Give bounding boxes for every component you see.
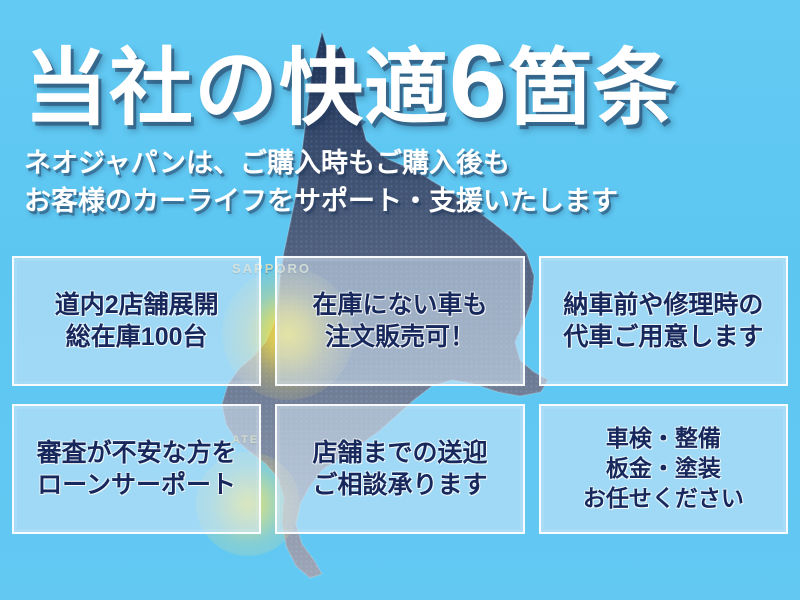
page-title: 当社の快適6箇条 [24, 28, 776, 136]
feature-text: 車検・整備 板金・塗装 お任せください [583, 424, 744, 514]
feature-order-sales: 在庫にない車も 注文販売可！ [275, 256, 524, 386]
feature-text: 在庫にない車も 注文販売可！ [312, 289, 487, 354]
feature-grid: 道内2店舗展開 総在庫100台 在庫にない車も 注文販売可！ 納車前や修理時の … [12, 256, 788, 534]
feature-loaner-car: 納車前や修理時の 代車ご用意します [539, 256, 788, 386]
subtitle-line-2: お客様のカーライフをサポート・支援いたします [24, 184, 776, 220]
title-number: 6 [449, 24, 508, 140]
promo-banner: SAPPORO ATE 当社の快適6箇条 ネオジャパンは、ご購入時もご購入後も … [0, 0, 800, 600]
feature-text: 納車前や修理時の 代車ご用意します [563, 289, 763, 354]
title-suffix: 箇条 [508, 41, 678, 135]
headline-block: 当社の快適6箇条 ネオジャパンは、ご購入時もご購入後も お客様のカーライフをサポ… [24, 28, 776, 219]
feature-stores-stock: 道内2店舗展開 総在庫100台 [12, 256, 261, 386]
feature-loan-support: 審査が不安な方を ローンサーポート [12, 404, 261, 534]
feature-pickup: 店舗までの送迎 ご相談承ります [275, 404, 524, 534]
feature-text: 店舗までの送迎 ご相談承ります [312, 437, 487, 502]
feature-inspection: 車検・整備 板金・塗装 お任せください [539, 404, 788, 534]
subtitle-line-1: ネオジャパンは、ご購入時もご購入後も [24, 146, 776, 182]
title-main: 当社の快適 [24, 41, 449, 135]
feature-text: 道内2店舗展開 総在庫100台 [55, 289, 219, 354]
feature-text: 審査が不安な方を ローンサーポート [37, 437, 237, 502]
